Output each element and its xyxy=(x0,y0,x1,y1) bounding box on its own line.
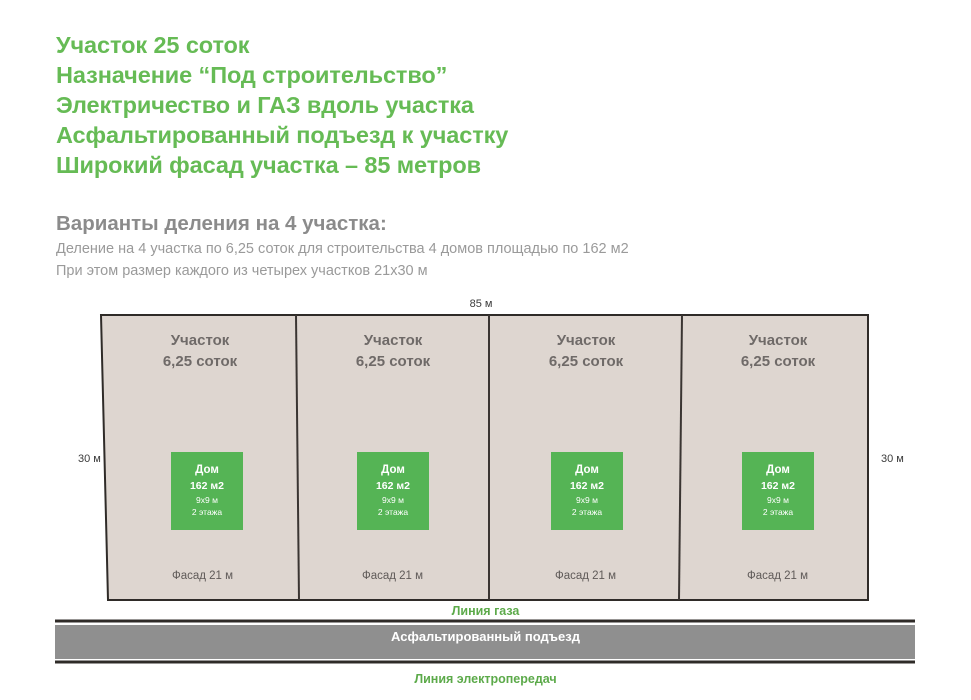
headline-line-2: Назначение “Под строительство” xyxy=(56,60,756,90)
headline-line-1: Участок 25 соток xyxy=(56,30,756,60)
house-box-2: Дом 162 м2 9х9 м 2 этажа xyxy=(357,452,429,530)
subheading-line-2: При этом размер каждого из четырех участ… xyxy=(56,260,816,282)
house-name-4: Дом xyxy=(742,463,814,478)
headline-line-4: Асфальтированный подъезд к участку xyxy=(56,120,756,150)
house-box-4: Дом 162 м2 9х9 м 2 этажа xyxy=(742,452,814,530)
facade-label-2: Фасад 21 м xyxy=(305,570,480,582)
facade-label-4: Фасад 21 м xyxy=(690,570,865,582)
house-floors-3: 2 этажа xyxy=(551,506,623,518)
house-size-1: 9х9 м xyxy=(171,494,243,506)
plot-label-4: Участок 6,25 соток xyxy=(688,330,868,372)
plot-area-4: 6,25 соток xyxy=(688,351,868,372)
house-box-3: Дом 162 м2 9х9 м 2 этажа xyxy=(551,452,623,530)
plot-title-4: Участок xyxy=(688,330,868,351)
plot-division-diagram: 85 м 30 м 30 м Участок 6,25 соток Дом 16… xyxy=(0,292,971,700)
asphalt-road-label: Асфальтированный подъезд xyxy=(0,629,971,644)
headline-block: Участок 25 соток Назначение “Под строите… xyxy=(56,30,756,180)
dimension-label-left: 30 м xyxy=(78,453,101,465)
plot-title-1: Участок xyxy=(110,330,290,351)
headline-line-5: Широкий фасад участка – 85 метров xyxy=(56,150,756,180)
house-floors-2: 2 этажа xyxy=(357,506,429,518)
plot-area-1: 6,25 соток xyxy=(110,351,290,372)
plot-title-2: Участок xyxy=(303,330,483,351)
plot-label-2: Участок 6,25 соток xyxy=(303,330,483,372)
headline-line-3: Электричество и ГАЗ вдоль участка xyxy=(56,90,756,120)
house-name-1: Дом xyxy=(171,463,243,478)
plot-area-3: 6,25 соток xyxy=(496,351,676,372)
plot-label-3: Участок 6,25 соток xyxy=(496,330,676,372)
house-size-2: 9х9 м xyxy=(357,494,429,506)
house-area-3: 162 м2 xyxy=(551,478,623,494)
house-size-4: 9х9 м xyxy=(742,494,814,506)
dimension-label-right: 30 м xyxy=(881,453,904,465)
house-box-1: Дом 162 м2 9х9 м 2 этажа xyxy=(171,452,243,530)
house-area-4: 162 м2 xyxy=(742,478,814,494)
plot-area-2: 6,25 соток xyxy=(303,351,483,372)
house-floors-1: 2 этажа xyxy=(171,506,243,518)
subheading-line-1: Деление на 4 участка по 6,25 соток для с… xyxy=(56,238,816,260)
house-floors-4: 2 этажа xyxy=(742,506,814,518)
plot-label-1: Участок 6,25 соток xyxy=(110,330,290,372)
facade-label-1: Фасад 21 м xyxy=(115,570,290,582)
house-area-1: 162 м2 xyxy=(171,478,243,494)
house-size-3: 9х9 м xyxy=(551,494,623,506)
house-name-2: Дом xyxy=(357,463,429,478)
power-line-label: Линия электропередач xyxy=(0,672,971,686)
gas-line-label: Линия газа xyxy=(0,604,971,618)
dimension-label-top: 85 м xyxy=(470,298,493,310)
facade-label-3: Фасад 21 м xyxy=(498,570,673,582)
house-name-3: Дом xyxy=(551,463,623,478)
subheading-block: Варианты деления на 4 участка: Деление н… xyxy=(56,210,816,282)
house-area-2: 162 м2 xyxy=(357,478,429,494)
plot-title-3: Участок xyxy=(496,330,676,351)
subheading-title: Варианты деления на 4 участка: xyxy=(56,210,816,238)
